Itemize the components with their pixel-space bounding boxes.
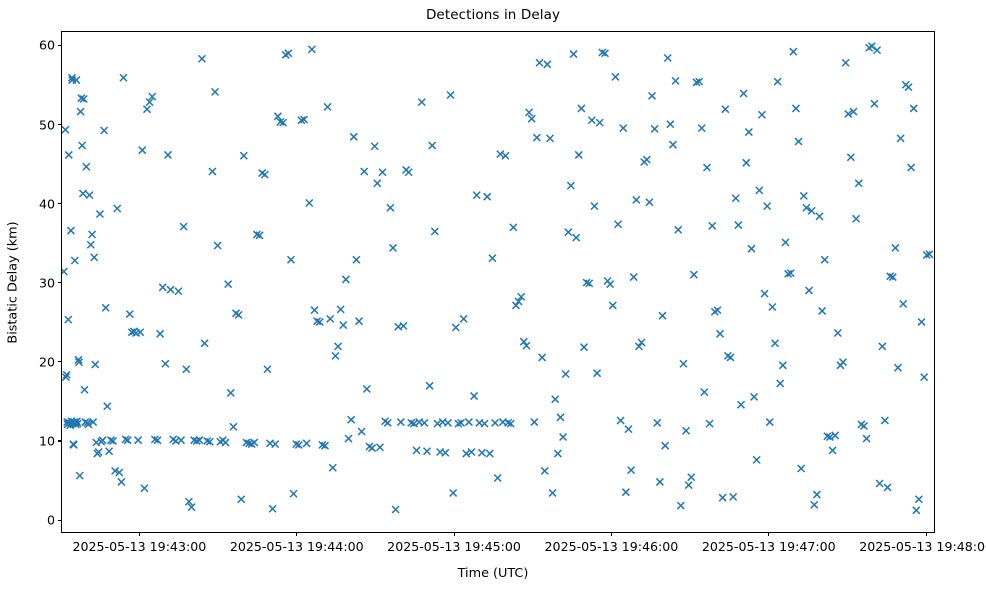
x-axis-tick <box>454 532 455 536</box>
data-point-marker <box>96 211 103 218</box>
data-point-marker <box>104 403 111 410</box>
data-point-marker <box>418 99 425 106</box>
data-point-marker <box>910 105 917 112</box>
data-point-marker <box>484 193 491 200</box>
data-point-marker <box>730 493 737 500</box>
data-point-marker <box>83 163 90 170</box>
data-point-marker <box>855 180 862 187</box>
data-point-marker <box>175 288 182 295</box>
y-axis-label-text: Bistatic Delay (km) <box>6 221 21 343</box>
y-axis-tick <box>58 282 62 283</box>
data-point-marker <box>139 147 146 154</box>
data-point-marker <box>353 256 360 263</box>
matplotlib-figure: Detections in Delay Bistatic Delay (km) … <box>0 0 986 590</box>
data-point-marker <box>915 496 922 503</box>
data-point-marker <box>167 286 174 293</box>
data-point-marker <box>387 204 394 211</box>
data-point-marker <box>114 205 121 212</box>
data-point-marker <box>842 59 849 66</box>
data-point-marker <box>612 73 619 80</box>
data-point-marker <box>761 290 768 297</box>
data-point-marker <box>102 304 109 311</box>
y-axis-tick-label: 10 <box>39 434 55 449</box>
data-point-marker <box>269 505 276 512</box>
data-point-marker <box>62 268 67 275</box>
data-point-marker <box>863 435 870 442</box>
data-point-marker <box>819 307 826 314</box>
data-point-marker <box>552 396 559 403</box>
data-point-marker <box>643 156 650 163</box>
data-point-marker <box>662 442 669 449</box>
data-point-marker <box>620 125 627 132</box>
data-point-marker <box>340 322 347 329</box>
data-point-marker <box>735 222 742 229</box>
data-point-marker <box>790 48 797 55</box>
y-axis-tick-label: 30 <box>39 275 55 290</box>
data-point-marker <box>106 448 113 455</box>
data-point-marker <box>792 105 799 112</box>
data-point-marker <box>879 343 886 350</box>
data-point-marker <box>756 187 763 194</box>
data-point-marker <box>840 359 847 366</box>
data-point-marker <box>324 103 331 110</box>
data-point-marker <box>327 315 334 322</box>
data-point-marker <box>531 419 538 426</box>
data-point-marker <box>164 151 171 158</box>
data-point-marker <box>444 419 451 426</box>
data-point-marker <box>209 168 216 175</box>
data-point-marker <box>65 151 72 158</box>
data-point-marker <box>876 480 883 487</box>
data-point-marker <box>384 419 391 426</box>
y-axis-tick <box>58 361 62 362</box>
data-point-marker <box>335 343 342 350</box>
data-point-marker <box>426 382 433 389</box>
x-axis-tick <box>768 532 769 536</box>
data-point-marker <box>374 180 381 187</box>
data-point-marker <box>379 169 386 176</box>
data-point-marker <box>732 195 739 202</box>
data-point-marker <box>625 426 632 433</box>
data-point-marker <box>67 227 74 234</box>
data-point-marker <box>772 340 779 347</box>
data-point-marker <box>494 475 501 482</box>
data-point-marker <box>201 340 208 347</box>
data-point-marker <box>544 61 551 68</box>
data-point-marker <box>421 419 428 426</box>
x-axis-tick-label: 2025-05-13 19:47:00 <box>702 539 836 554</box>
data-point-marker <box>468 449 475 456</box>
data-point-marker <box>431 228 438 235</box>
data-point-marker <box>567 182 574 189</box>
x-axis-tick-label: 2025-05-13 19:44:00 <box>230 539 364 554</box>
data-point-marker <box>706 420 713 427</box>
data-point-marker <box>227 389 234 396</box>
data-point-marker <box>264 366 271 373</box>
y-axis-tick <box>58 45 62 46</box>
data-point-marker <box>434 420 441 427</box>
data-point-marker <box>609 302 616 309</box>
data-point-marker <box>588 117 595 124</box>
data-point-marker <box>371 143 378 150</box>
data-point-marker <box>77 108 84 115</box>
data-point-marker <box>348 416 355 423</box>
data-point-marker <box>272 441 279 448</box>
y-axis-label: Bistatic Delay (km) <box>4 31 22 533</box>
data-point-marker <box>337 306 344 313</box>
data-point-marker <box>369 445 376 452</box>
data-point-marker <box>546 135 553 142</box>
data-point-marker <box>798 465 805 472</box>
data-point-marker <box>881 417 888 424</box>
data-point-marker <box>617 417 624 424</box>
data-point-marker <box>701 389 708 396</box>
data-point-marker <box>405 169 412 176</box>
data-point-marker <box>120 74 127 81</box>
data-point-marker <box>745 129 752 136</box>
data-point-marker <box>596 119 603 126</box>
data-point-marker <box>874 47 881 54</box>
data-point-marker <box>303 440 310 447</box>
data-point-marker <box>413 447 420 454</box>
data-point-marker <box>667 121 674 128</box>
data-point-marker <box>86 192 93 199</box>
data-point-marker <box>821 256 828 263</box>
data-point-marker <box>497 151 504 158</box>
data-point-marker <box>332 352 339 359</box>
data-point-marker <box>212 88 219 95</box>
data-point-marker <box>89 231 96 238</box>
data-point-marker <box>635 343 642 350</box>
data-point-marker <box>144 106 151 113</box>
data-point-marker <box>79 142 86 149</box>
data-point-marker <box>329 464 336 471</box>
data-point-marker <box>81 386 88 393</box>
data-point-marker <box>795 138 802 145</box>
data-point-marker <box>651 125 658 132</box>
data-point-marker <box>118 478 125 485</box>
data-point-marker <box>829 447 836 454</box>
data-point-marker <box>287 256 294 263</box>
data-point-marker <box>779 362 786 369</box>
data-point-marker <box>235 311 242 318</box>
data-point-marker <box>562 371 569 378</box>
data-point-marker <box>594 370 601 377</box>
x-axis-tick <box>139 532 140 536</box>
data-point-marker <box>79 190 86 197</box>
data-point-marker <box>536 59 543 66</box>
data-point-marker <box>541 467 548 474</box>
data-point-marker <box>685 482 692 489</box>
data-point-marker <box>162 360 169 367</box>
data-point-marker <box>358 428 365 435</box>
data-point-marker <box>345 435 352 442</box>
data-point-marker <box>238 496 245 503</box>
data-point-marker <box>528 115 535 122</box>
data-point-marker <box>225 281 232 288</box>
data-point-marker <box>649 92 656 99</box>
data-point-marker <box>311 307 318 314</box>
data-point-marker <box>630 274 637 281</box>
data-point-marker <box>510 224 517 231</box>
x-axis-tick-label: 2025-05-13 19:48:00 <box>859 539 986 554</box>
data-point-marker <box>306 200 313 207</box>
data-point-marker <box>502 152 509 159</box>
data-point-marker <box>782 239 789 246</box>
data-point-marker <box>921 374 928 381</box>
data-point-marker <box>664 55 671 62</box>
y-axis-tick-label: 60 <box>39 38 55 53</box>
data-point-marker <box>350 133 357 140</box>
data-point-marker <box>714 307 721 314</box>
data-point-marker <box>565 229 572 236</box>
data-point-marker <box>656 478 663 485</box>
data-point-marker <box>392 506 399 513</box>
data-point-marker <box>87 241 94 248</box>
data-point-marker <box>91 254 98 261</box>
data-point-marker <box>526 109 533 116</box>
data-point-marker <box>675 226 682 233</box>
data-point-marker <box>180 223 187 230</box>
data-point-marker <box>76 472 83 479</box>
data-point-marker <box>834 330 841 337</box>
data-point-marker <box>512 302 519 309</box>
data-point-marker <box>860 423 867 430</box>
data-point-marker <box>135 437 142 444</box>
data-point-marker <box>832 432 839 439</box>
data-point-marker <box>471 393 478 400</box>
y-axis-tick <box>58 520 62 521</box>
data-point-marker <box>908 164 915 171</box>
data-point-marker <box>591 203 598 210</box>
data-point-marker <box>769 304 776 311</box>
data-point-marker <box>709 222 716 229</box>
data-point-marker <box>355 318 362 325</box>
data-point-marker <box>492 419 499 426</box>
data-point-marker <box>570 51 577 58</box>
data-point-marker <box>429 142 436 149</box>
data-point-marker <box>740 90 747 97</box>
data-point-marker <box>549 489 556 496</box>
data-point-marker <box>853 215 860 222</box>
data-point-marker <box>753 456 760 463</box>
data-point-marker <box>703 164 710 171</box>
data-point-marker <box>261 171 268 178</box>
data-point-marker <box>424 448 431 455</box>
data-point-marker <box>847 154 854 161</box>
data-point-marker <box>376 444 383 451</box>
y-axis-tick-label: 20 <box>39 354 55 369</box>
data-point-marker <box>157 330 164 337</box>
data-point-marker <box>363 385 370 392</box>
y-axis-tick <box>58 124 62 125</box>
data-point-marker <box>285 50 292 57</box>
data-point-marker <box>766 419 773 426</box>
data-point-marker <box>683 427 690 434</box>
data-point-marker <box>654 419 661 426</box>
data-point-marker <box>557 414 564 421</box>
data-point-marker <box>690 271 697 278</box>
x-axis-tick <box>296 532 297 536</box>
data-point-marker <box>688 474 695 481</box>
data-point-marker <box>141 485 148 492</box>
data-point-marker <box>450 489 457 496</box>
data-point-marker <box>65 316 72 323</box>
data-point-marker <box>400 322 407 329</box>
data-point-marker <box>581 344 588 351</box>
data-point-marker <box>897 135 904 142</box>
data-point-marker <box>489 255 496 262</box>
data-point-marker <box>523 342 530 349</box>
data-point-marker <box>465 419 472 426</box>
data-point-marker <box>447 92 454 99</box>
data-point-marker <box>214 242 221 249</box>
data-point-marker <box>615 221 622 228</box>
data-point-marker <box>578 105 585 112</box>
data-point-marker <box>698 125 705 132</box>
data-point-marker <box>913 507 920 514</box>
data-point-marker <box>554 450 561 457</box>
data-point-marker <box>539 354 546 361</box>
data-point-marker <box>481 420 488 427</box>
data-point-marker <box>646 199 653 206</box>
y-axis-tick <box>58 203 62 204</box>
data-point-marker <box>751 393 758 400</box>
data-point-marker <box>638 339 645 346</box>
data-point-marker <box>738 401 745 408</box>
data-point-marker <box>777 380 784 387</box>
data-point-marker <box>905 84 912 91</box>
data-point-marker <box>71 257 78 264</box>
data-point-marker <box>390 244 397 251</box>
data-point-marker <box>533 134 540 141</box>
data-point-marker <box>758 111 765 118</box>
y-axis-tick-label: 0 <box>47 513 55 528</box>
data-point-marker <box>813 491 820 498</box>
data-point-marker <box>764 203 771 210</box>
data-point-marker <box>900 300 907 307</box>
data-point-marker <box>628 467 635 474</box>
x-axis-label: Time (UTC) <box>0 566 986 581</box>
data-point-marker <box>342 276 349 283</box>
x-axis-tick <box>611 532 612 536</box>
x-axis-tick <box>926 532 927 536</box>
data-point-marker <box>816 213 823 220</box>
data-point-marker <box>892 244 899 251</box>
data-point-marker <box>520 338 527 345</box>
data-point-marker <box>159 284 166 291</box>
y-axis-tick <box>58 440 62 441</box>
data-point-marker <box>178 437 185 444</box>
data-point-marker <box>868 43 875 50</box>
data-point-marker <box>672 77 679 84</box>
data-point-marker <box>722 106 729 113</box>
data-point-marker <box>607 281 614 288</box>
data-point-marker <box>183 366 190 373</box>
data-point-marker <box>222 439 229 446</box>
page-title: Detections in Delay <box>0 7 986 23</box>
data-point-marker <box>442 449 449 456</box>
data-point-marker <box>680 360 687 367</box>
data-point-marker <box>361 168 368 175</box>
data-point-marker <box>230 423 237 430</box>
data-point-marker <box>669 141 676 148</box>
x-axis-tick-label: 2025-05-13 19:46:00 <box>545 539 679 554</box>
data-point-marker <box>560 434 567 441</box>
data-point-marker <box>774 78 781 85</box>
y-axis-tick-label: 50 <box>39 117 55 132</box>
data-point-marker <box>575 151 582 158</box>
plot-area: 01020304050602025-05-13 19:43:002025-05-… <box>61 31 935 533</box>
data-point-marker <box>240 152 247 159</box>
data-point-marker <box>727 354 734 361</box>
data-point-marker <box>918 318 925 325</box>
data-point-marker <box>659 312 666 319</box>
data-point-marker <box>92 361 99 368</box>
data-point-marker <box>717 330 724 337</box>
data-point-marker <box>198 55 205 62</box>
y-axis-tick-label: 40 <box>39 196 55 211</box>
data-point-marker <box>397 419 404 426</box>
data-point-marker <box>460 315 467 322</box>
data-point-marker <box>478 449 485 456</box>
scatter-series <box>62 32 934 532</box>
x-axis-tick-label: 2025-05-13 19:45:00 <box>387 539 521 554</box>
data-point-marker <box>633 196 640 203</box>
data-point-marker <box>800 192 807 199</box>
data-point-marker <box>251 439 258 446</box>
data-point-marker <box>811 501 818 508</box>
data-point-marker <box>290 490 297 497</box>
x-axis-tick-label: 2025-05-13 19:43:00 <box>72 539 206 554</box>
data-point-marker <box>463 450 470 457</box>
data-point-marker <box>871 100 878 107</box>
data-point-marker <box>101 127 108 134</box>
data-point-marker <box>308 46 315 53</box>
data-point-marker <box>622 489 629 496</box>
data-point-marker <box>62 126 69 133</box>
data-point-marker <box>884 484 891 491</box>
data-point-marker <box>452 324 459 331</box>
data-point-marker <box>806 287 813 294</box>
data-point-marker <box>573 234 580 241</box>
data-point-marker <box>677 502 684 509</box>
marker-group <box>62 43 933 514</box>
data-point-marker <box>743 159 750 166</box>
data-point-marker <box>126 311 133 318</box>
data-point-marker <box>719 494 726 501</box>
data-point-marker <box>894 364 901 371</box>
data-point-marker <box>473 192 480 199</box>
data-point-marker <box>486 450 493 457</box>
data-point-marker <box>748 245 755 252</box>
data-point-marker <box>70 441 77 448</box>
